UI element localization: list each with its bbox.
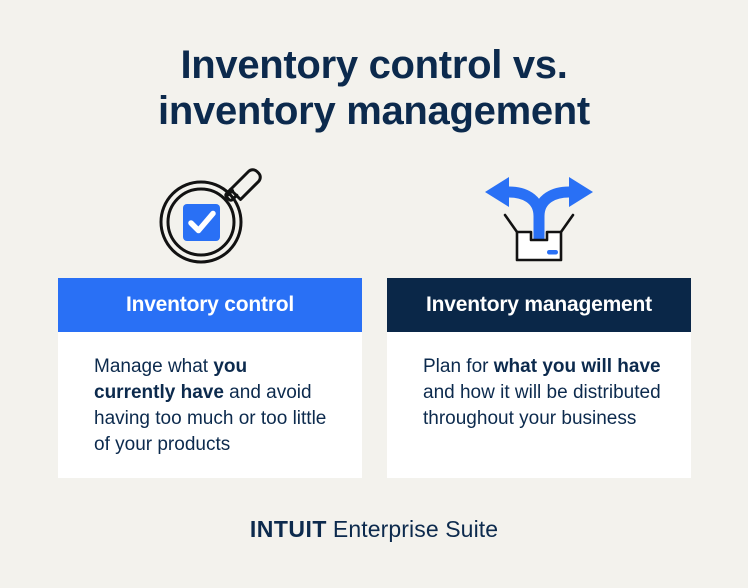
card-header-inventory-management: Inventory management [387, 278, 691, 332]
magnifying-glass-check-icon [158, 157, 262, 265]
card-body-inventory-control: Manage what you currently have and avoid… [58, 332, 362, 478]
card-inventory-control: Inventory control Manage what you curren… [58, 278, 362, 478]
enterprise-suite-label: Enterprise Suite [333, 516, 498, 542]
infographic-root: Inventory control vs. inventory manageme… [0, 0, 748, 588]
intuit-wordmark: INTUIT [250, 516, 327, 542]
icon-cell-right [387, 152, 691, 270]
card-inventory-management: Inventory management Plan for what you w… [387, 278, 691, 478]
page-title: Inventory control vs. inventory manageme… [0, 42, 748, 134]
icon-row [58, 152, 691, 270]
open-box-branching-arrow-icon [483, 158, 595, 264]
footer-logo: INTUITEnterprise Suite [0, 515, 748, 543]
icon-cell-left [58, 152, 362, 270]
card-body-inventory-management: Plan for what you will have and how it w… [387, 332, 691, 478]
comparison-cards: Inventory control Manage what you curren… [58, 278, 691, 478]
card-header-inventory-control: Inventory control [58, 278, 362, 332]
